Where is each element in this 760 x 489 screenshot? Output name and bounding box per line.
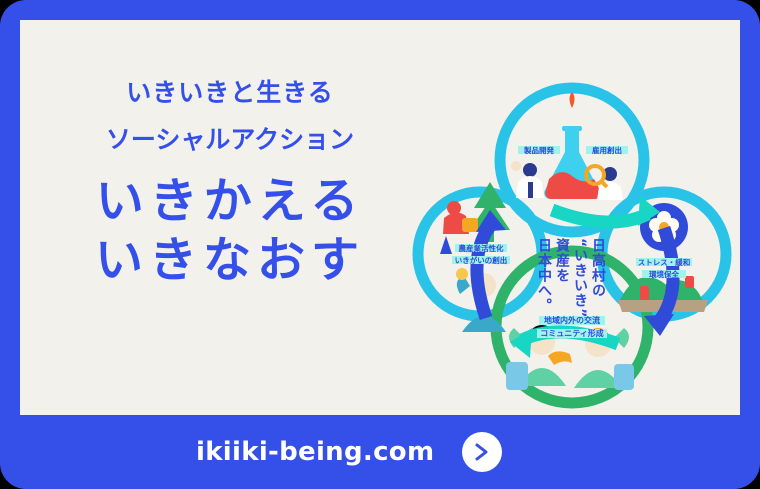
- labels-social: ストレス・緩和 環境保全: [636, 257, 692, 279]
- cycle-diagram: BUSINESS SOCIAL LOCAL COMMUNICATION 製品開発…: [402, 42, 742, 412]
- label-local-1: 農産業活性化: [459, 243, 504, 253]
- arrow-right-icon[interactable]: [462, 432, 502, 472]
- label-business-1: 製品開発: [523, 145, 554, 155]
- label-local-2: いきがいの創出: [455, 255, 508, 265]
- card-panel: いきいきと生きる ソーシャルアクション いきかえる いきなおす: [20, 20, 740, 415]
- headline-line-3: いきかえる: [60, 172, 400, 231]
- headline-line-4: いきなおす: [60, 231, 400, 290]
- cycle-diagram-svg: BUSINESS SOCIAL LOCAL COMMUNICATION 製品開発…: [402, 42, 742, 412]
- headline-line-1: いきいきと生きる: [60, 80, 400, 105]
- center-col-3: 資産を: [554, 237, 570, 283]
- center-col-1: 日高村の: [590, 238, 606, 298]
- headline-line-2: ソーシャルアクション: [60, 127, 400, 152]
- promo-card: いきいきと生きる ソーシャルアクション いきかえる いきなおす: [0, 0, 760, 489]
- headline-main: いきかえる いきなおす: [60, 172, 400, 289]
- cycle-arrow-right: [552, 196, 660, 226]
- site-url[interactable]: ikiiki-being.com: [196, 437, 434, 467]
- center-col-2: “いきいき”: [572, 238, 588, 318]
- label-communication-2: コミュニティ形成: [540, 328, 604, 338]
- scientist-left-icon: [511, 161, 544, 198]
- headline-block: いきいきと生きる ソーシャルアクション いきかえる いきなおす: [60, 80, 400, 289]
- label-business-2: 雇用創出: [592, 145, 622, 155]
- center-col-4: 日本中へ。: [536, 238, 552, 313]
- label-social-1: ストレス・緩和: [638, 257, 691, 267]
- arc-label-communication: COMMUNICATION: [402, 42, 574, 46]
- footer-bar: ikiiki-being.com: [0, 415, 760, 489]
- label-social-2: 環境保全: [649, 269, 679, 279]
